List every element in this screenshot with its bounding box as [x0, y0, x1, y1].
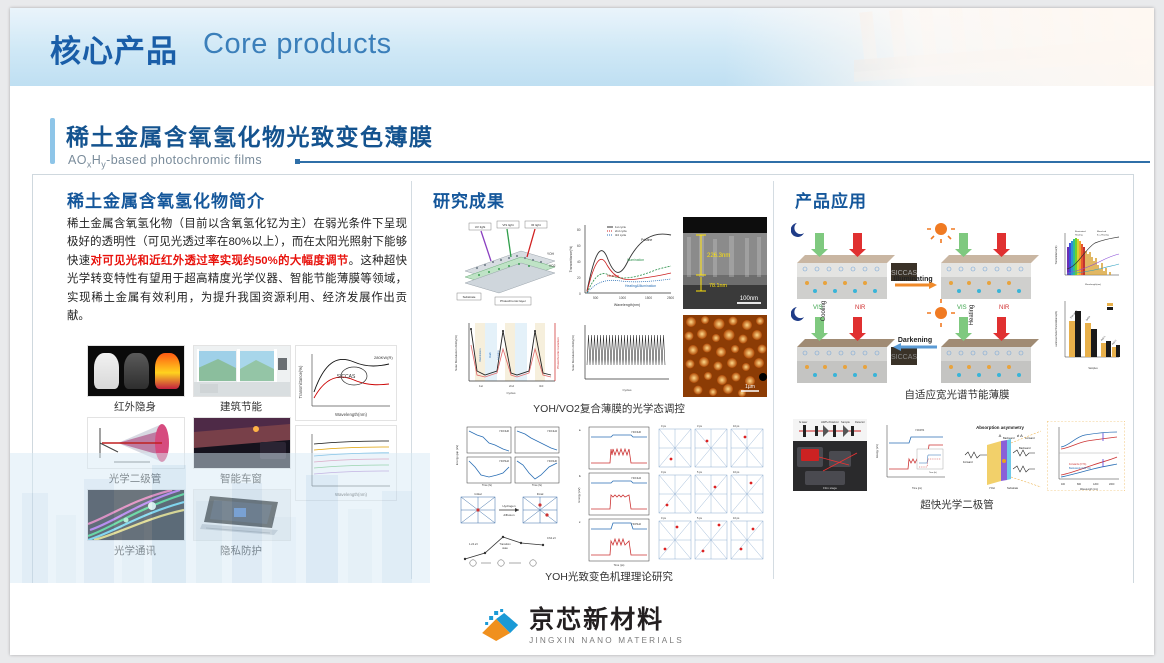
label-cooling: Cooling [821, 301, 827, 321]
svg-text:Y4O3H6: Y4O3H6 [631, 430, 642, 434]
performance-bar-chart: This work WO3 Ref.1 Ref.2 Samples Lumino… [1053, 295, 1123, 373]
svg-text:Time (fs): Time (fs) [532, 483, 542, 487]
svg-text:400: 400 [1061, 483, 1066, 486]
svg-text:226.3nm: 226.3nm [707, 253, 730, 259]
svg-text:Heating&Illumination: Heating&Illumination [625, 284, 656, 288]
svg-text:60: 60 [577, 244, 581, 248]
svg-text:Heating: Heating [496, 350, 500, 359]
intro-highlight: 对可见光和近红外透过率实现约50%的大幅度调节 [91, 255, 349, 267]
svg-text:2000: 2000 [1109, 483, 1115, 486]
svg-text:UV light: UV light [475, 225, 486, 229]
svg-text:Forward: Forward [963, 460, 973, 464]
long-cycle-stability-plot: Cycles Solar Modulation Ability(%) [567, 315, 677, 397]
svg-text:Cycles: Cycles [506, 391, 516, 395]
svg-text:3 ps: 3 ps [697, 424, 703, 428]
svg-text:Y4O3H6: Y4O3H6 [499, 429, 510, 433]
middle-column-heading: 研究成果 [433, 187, 505, 212]
svg-text:Hydrogen: Hydrogen [502, 504, 515, 508]
section-title: 稀土金属含氧氢化物光致变色薄膜 [66, 118, 434, 152]
gallery-label-0: 红外隐身 [87, 399, 183, 414]
svg-text:Heating: Heating [1075, 234, 1083, 237]
hydrogen-diffusion-schematic: InitialFinal Hydrogendiffusion 1.24 eVTr… [451, 491, 569, 567]
section-subtitle: AOxHy-based photochromic films [68, 153, 262, 170]
gallery-image-infrared-stealth [87, 345, 185, 397]
figure-adaptive-film-cycle: SICCAS [791, 223, 1091, 383]
svg-text:Bleached: Bleached [1097, 231, 1107, 233]
svg-text:1.24 eV: 1.24 eV [469, 542, 478, 546]
asymmetry-schematic: Absorption asymmetry A Backward ≠ A Forw… [957, 419, 1043, 491]
svg-text:IR light: IR light [531, 223, 541, 227]
svg-text:5 ps: 5 ps [697, 470, 703, 474]
svg-text:Samples: Samples [1088, 367, 1098, 370]
transmittance-spectra-plot: 02040 6080 500100015002500 Pristine Illu… [567, 217, 677, 309]
svg-text:40: 40 [577, 260, 581, 264]
svg-text:1000: 1000 [619, 296, 626, 300]
svg-text:10 ps: 10 ps [733, 516, 740, 520]
figure-afm-surface: 1µm [683, 315, 767, 397]
transmittance-curve-plot: SICCAS Wavelength(nm) Transmittance(%) 2… [296, 346, 396, 420]
label-heating: Heating [969, 305, 975, 326]
svg-text:Y4O4H4: Y4O4H4 [547, 429, 558, 433]
svg-text:NIR: NIR [999, 305, 1010, 311]
svg-text:A: A [999, 433, 1002, 438]
figure-asymmetry-spectra: Forwards (0°/%) Backwards (180°/%) 40080… [1047, 421, 1125, 491]
svg-text:Energy gap (eV): Energy gap (eV) [455, 445, 459, 465]
energy-gap-panels: Y4O3H6Y4O4H4 Y4O5H2Y4O6H0 Time (fs)Time … [451, 423, 569, 487]
gallery-image-building-energy [193, 345, 291, 397]
svg-text:Photochromic layer: Photochromic layer [500, 299, 526, 303]
svg-text:VIS light: VIS light [502, 223, 513, 227]
svg-text:VIS: VIS [813, 305, 823, 311]
switching-time-plot: Y4O4H4 Time (ps) Time (fs) Energy (eV) [873, 419, 951, 491]
svg-text:0 ps: 0 ps [661, 424, 667, 428]
svg-text:diffusion: diffusion [503, 513, 514, 517]
cycling-modulation-plot: 1st2nd3rd Cycles Solar Modulation Abilit… [451, 315, 561, 397]
svg-text:Dark: Dark [488, 352, 492, 358]
right-caption-1: 自适应宽光谱节能薄膜 [791, 387, 1123, 402]
svg-text:10 ps: 10 ps [733, 424, 740, 428]
page-header: 核心产品 Core products [10, 8, 1154, 86]
figure-crystal-snapshot-grid: 0 ps3 ps10 ps 0 ps5 ps10 ps 0 ps5 ps10 p… [657, 423, 767, 567]
svg-text:HWP+Polarizer: HWP+Polarizer [821, 420, 839, 424]
figure-hydrogen-diffusion: InitialFinal Hydrogendiffusion 1.24 eVTr… [451, 491, 569, 567]
svg-text:Solar Modulation Ability(%): Solar Modulation Ability(%) [571, 335, 575, 371]
asymmetry-spectra-plot: Forwards (0°/%) Backwards (180°/%) 40080… [1047, 421, 1125, 491]
svg-text:Y4O6H0: Y4O6H0 [547, 459, 558, 463]
svg-text:Y4O4H4: Y4O4H4 [631, 476, 642, 480]
building-window-art [194, 346, 290, 396]
figure-optical-setup: fs laserHWP+PolarizerSampleDetector Film… [793, 419, 867, 491]
label-absorption-asymmetry: Absorption asymmetry [976, 425, 1024, 430]
logo-name-en: JINGXIN NANO MATERIALS [529, 637, 684, 645]
svg-text:Transmittance(%): Transmittance(%) [1055, 245, 1058, 264]
svg-text:10 ps: 10 ps [733, 470, 740, 474]
svg-text:Backward: Backward [1003, 436, 1015, 440]
svg-text:state: state [502, 546, 508, 550]
svg-text:Final: Final [537, 492, 544, 496]
svg-text:Transition: Transition [499, 542, 511, 546]
crystal-snapshot-grid: 0 ps3 ps10 ps 0 ps5 ps10 ps 0 ps5 ps10 p… [657, 423, 767, 567]
svg-text:800: 800 [1077, 483, 1082, 486]
svg-text:Time (fs): Time (fs) [482, 483, 492, 487]
svg-text:Backward: Backward [1019, 446, 1031, 450]
svg-text:280KW(R): 280KW(R) [374, 355, 393, 360]
column-divider-2 [773, 181, 774, 579]
figure-md-time-traces: abc Y4O3H6Y4O4H4Y4O5H2 Time (ps) Energy … [575, 423, 653, 567]
svg-text:Wavelength(nm): Wavelength(nm) [614, 303, 640, 307]
page-title-en: Core products [203, 28, 392, 61]
svg-text:1200: 1200 [1093, 483, 1099, 486]
figure-long-cycle-stability: Cycles Solar Modulation Ability(%) [567, 315, 677, 397]
svg-text:YOH: YOH [989, 486, 995, 490]
svg-text:2nd: 2nd [509, 384, 514, 388]
svg-text:Illumination: Illumination [478, 348, 482, 362]
section-divider [300, 161, 1150, 163]
svg-text:Luminous/Solar Transmittance(%: Luminous/Solar Transmittance(%) [1055, 311, 1058, 347]
svg-text:0.64 eV: 0.64 eV [547, 536, 556, 540]
svg-text:Time (ps): Time (ps) [614, 563, 625, 567]
figure-energy-gap-panels: Y4O3H6Y4O4H4 Y4O5H2Y4O6H0 Time (fs)Time … [451, 423, 569, 487]
figure-solar-spectrum: IlluminatedBleached HeatingIlu.+Heating … [1053, 227, 1123, 289]
svg-text:Energy (eV): Energy (eV) [577, 487, 581, 502]
svg-text:SICCAS: SICCAS [891, 354, 917, 361]
page-title-cn: 核心产品 [50, 26, 178, 71]
svg-text:2500: 2500 [667, 296, 674, 300]
svg-text:fs laser: fs laser [799, 420, 807, 424]
svg-text:Illumination: Illumination [627, 258, 644, 262]
svg-text:0 ps: 0 ps [661, 516, 667, 520]
svg-text:Heating: Heating [607, 274, 619, 278]
svg-text:Film stage: Film stage [823, 486, 837, 490]
transmittance-thumb-chart: SICCAS Wavelength(nm) Transmittance(%) 2… [295, 345, 397, 421]
figure-tem-cross-section: 226.3nm 78.1nm 100nm [683, 217, 767, 309]
svg-text:Backwards (180°/%): Backwards (180°/%) [1069, 467, 1091, 470]
figure-performance-bar-chart: This work WO3 Ref.1 Ref.2 Samples Lumino… [1053, 295, 1123, 373]
svg-text:Y4O5H2: Y4O5H2 [631, 522, 642, 526]
svg-text:Wavelength(nm): Wavelength(nm) [1085, 283, 1101, 286]
svg-text:78.1nm: 78.1nm [709, 283, 727, 289]
header-gradient-overlay [724, 8, 1154, 86]
figure-switching-time: Y4O4H4 Time (ps) Time (fs) Energy (eV) [873, 419, 951, 491]
figure-cycling-modulation: 1st2nd3rd Cycles Solar Modulation Abilit… [451, 315, 561, 397]
logo-text: 京芯新材料 JINGXIN NANO MATERIALS [529, 608, 684, 645]
svg-text:1500: 1500 [645, 296, 652, 300]
svg-text:Substrate: Substrate [463, 295, 476, 299]
svg-text:Photochromic transition: Photochromic transition [556, 337, 560, 369]
tem-cross-section-image: 226.3nm 78.1nm 100nm [683, 217, 767, 309]
pixel-arrow-logo-icon [480, 609, 520, 643]
figure-transmittance-spectra: 02040 6080 500100015002500 Pristine Illu… [567, 217, 677, 309]
svg-text:1st: 1st [479, 384, 483, 388]
svg-text:Time (ps): Time (ps) [912, 487, 922, 490]
svg-text:Transmittance(%): Transmittance(%) [569, 246, 573, 273]
middle-caption-2: YOH光致变色机理理论研究 [451, 569, 767, 584]
svg-text:Pristine: Pristine [641, 238, 652, 242]
svg-text:Cycles: Cycles [622, 388, 632, 392]
slide: 核心产品 Core products 稀土金属含氧氢化物光致变色薄膜 AOxHy… [10, 8, 1154, 655]
logo-name-cn: 京芯新材料 [529, 608, 684, 633]
intro-paragraph: 稀土金属含氧氢化物（目前以含氧氢化钇为主）在弱光条件下呈现极好的透明性（可见光透… [67, 215, 407, 326]
figure-asymmetry-schematic: Absorption asymmetry A Backward ≠ A Forw… [957, 419, 1043, 491]
svg-text:Wavelength(nm): Wavelength(nm) [335, 412, 368, 417]
section-accent-bar [50, 118, 55, 164]
svg-text:Ilu.+Heating: Ilu.+Heating [1097, 234, 1110, 237]
page-footer: 京芯新材料 JINGXIN NANO MATERIALS [10, 583, 1154, 655]
svg-text:Transmittance(%): Transmittance(%) [298, 365, 303, 398]
svg-text:YOH: YOH [547, 252, 555, 256]
svg-text:5 ps: 5 ps [697, 516, 703, 520]
right-caption-2: 超快光学二极管 [791, 497, 1123, 512]
optical-setup-photo: fs laserHWP+PolarizerSampleDetector Film… [793, 419, 867, 491]
svg-text:Illuminated: Illuminated [1075, 230, 1086, 233]
svg-text:3rd: 3rd [539, 384, 544, 388]
svg-text:Time (fs): Time (fs) [929, 472, 937, 474]
svg-text:Detector: Detector [855, 420, 865, 424]
svg-text:0: 0 [579, 292, 581, 296]
afm-surface-image: 1µm [683, 315, 767, 397]
svg-text:3rd cycle: 3rd cycle [615, 233, 627, 237]
svg-text:500: 500 [593, 296, 599, 300]
svg-text:Y4O4H4: Y4O4H4 [915, 429, 925, 432]
svg-text:0 ps: 0 ps [661, 470, 667, 474]
right-column-heading: 产品应用 [795, 187, 867, 212]
company-logo: 京芯新材料 JINGXIN NANO MATERIALS [480, 608, 684, 645]
svg-text:Forwards (0°/%): Forwards (0°/%) [1069, 463, 1086, 466]
svg-text:Substrate: Substrate [1007, 486, 1019, 490]
svg-text:100nm: 100nm [740, 296, 758, 302]
svg-text:Wavelength (nm): Wavelength (nm) [1080, 488, 1098, 491]
figure-film-structure-schematic: UV light VIS light IR light Substrate Ph… [451, 217, 561, 309]
svg-text:NIR: NIR [855, 305, 866, 311]
svg-text:1µm: 1µm [745, 384, 755, 390]
svg-text:SICCAS: SICCAS [337, 374, 356, 380]
layered-film-schematic: UV light VIS light IR light Substrate Ph… [451, 217, 561, 309]
svg-text:Y4O5H2: Y4O5H2 [499, 459, 510, 463]
city-skyline-watermark [10, 453, 430, 583]
svg-text:VO2: VO2 [549, 264, 556, 268]
svg-text:≠ A: ≠ A [1017, 433, 1023, 438]
label-illuminating: Illuminating [893, 276, 932, 283]
gallery-label-1: 建筑节能 [193, 399, 289, 414]
md-time-traces: abc Y4O3H6Y4O4H4Y4O5H2 Time (ps) Energy … [575, 423, 653, 567]
left-column-heading: 稀土金属含氧氢化物简介 [67, 187, 265, 212]
svg-text:Sample: Sample [841, 420, 850, 424]
middle-caption-1: YOH/VO2复合薄膜的光学态调控 [451, 401, 767, 416]
svg-text:Energy (eV): Energy (eV) [875, 444, 879, 458]
label-darkening: Darkening [898, 337, 932, 344]
svg-text:Solar Modulation Ability(%): Solar Modulation Ability(%) [454, 335, 458, 371]
svg-text:VIS: VIS [957, 305, 967, 311]
svg-text:80: 80 [577, 228, 581, 232]
svg-text:20: 20 [577, 276, 581, 280]
adaptive-film-cycle-diagram: SICCAS [791, 223, 1091, 383]
solar-spectrum-plot: IlluminatedBleached HeatingIlu.+Heating … [1053, 227, 1123, 289]
svg-text:Forward: Forward [1025, 436, 1035, 440]
svg-text:Initial: Initial [474, 492, 481, 496]
